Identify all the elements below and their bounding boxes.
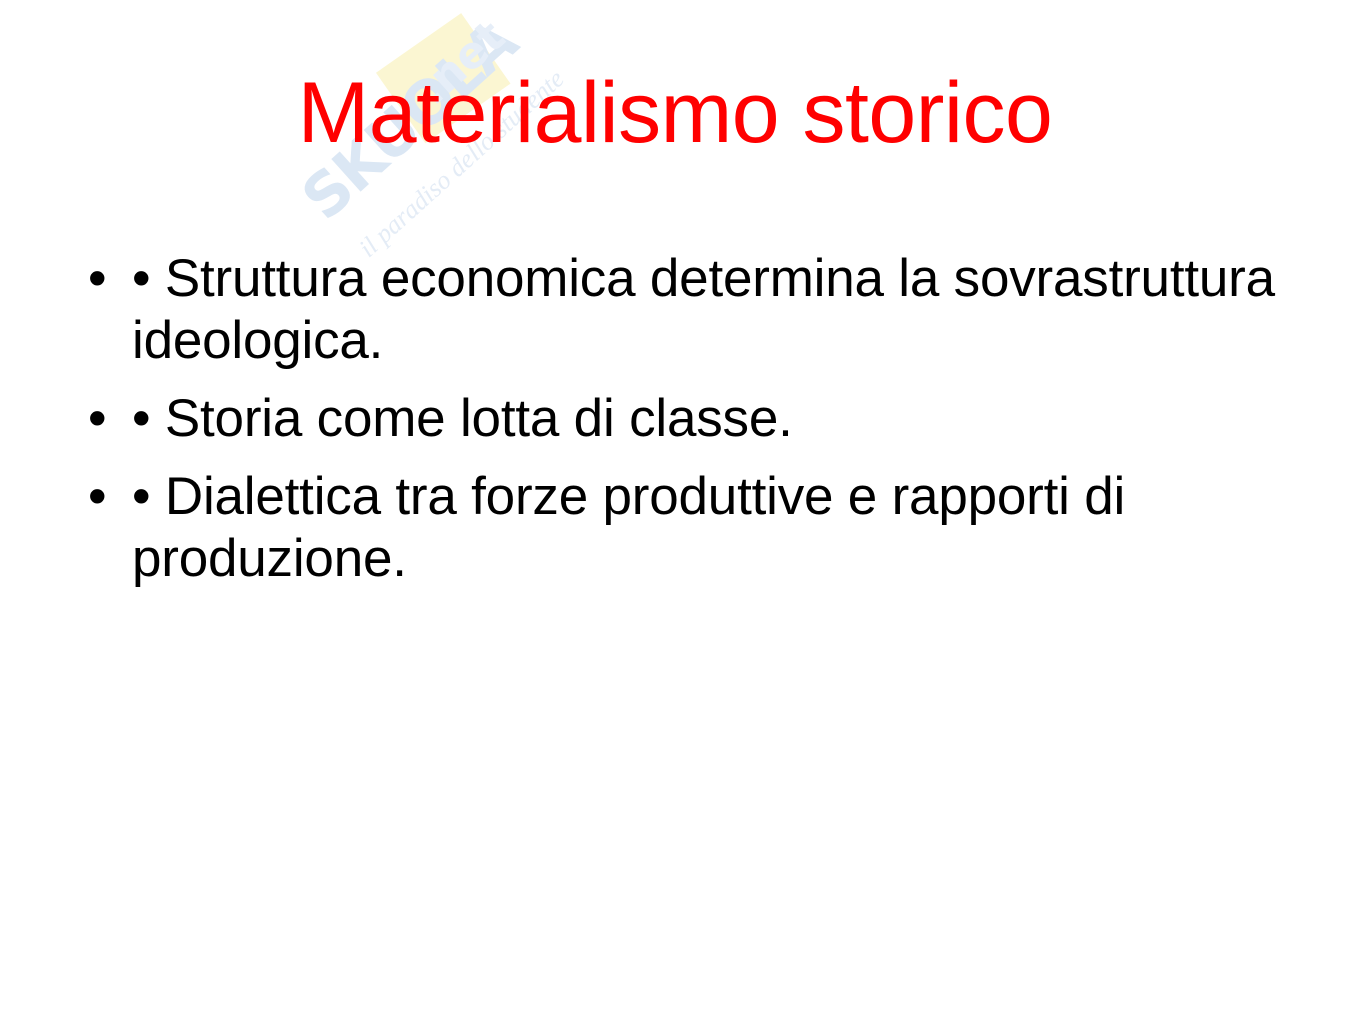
bullet-point-icon: •: [88, 466, 106, 528]
list-item-text: • Struttura economica determina la sovra…: [132, 248, 1278, 372]
list-item: • • Storia come lotta di classe.: [78, 388, 1278, 450]
slide-body-bullet-list: • • Struttura economica determina la sov…: [78, 248, 1278, 590]
slide-title: Materialismo storico: [0, 68, 1350, 158]
list-item: • • Dialettica tra forze produttive e ra…: [78, 466, 1278, 590]
bullet-point-icon: •: [88, 388, 106, 450]
list-item: • • Struttura economica determina la sov…: [78, 248, 1278, 372]
bullet-point-icon: •: [88, 248, 106, 310]
presentation-slide: SKUOLA .net il paradiso dello studente M…: [0, 0, 1350, 1013]
list-item-text: • Storia come lotta di classe.: [132, 388, 1278, 450]
list-item-text: • Dialettica tra forze produttive e rapp…: [132, 466, 1278, 590]
